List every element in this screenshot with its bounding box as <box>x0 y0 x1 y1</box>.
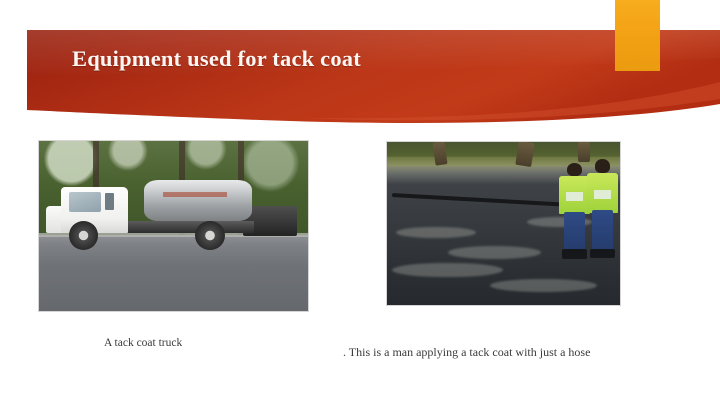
caption-tack-coat-hose: . This is a man applying a tack coat wit… <box>343 345 590 360</box>
worker-trousers <box>564 212 586 250</box>
truck-front-wheel <box>69 221 99 250</box>
tack-coat-truck-photo <box>39 141 308 311</box>
worker-trousers <box>592 210 614 250</box>
truck-rear-wheel <box>195 221 225 250</box>
asphalt-smear <box>396 227 475 238</box>
tree-trunk-icon <box>432 142 447 166</box>
caption-tack-coat-truck: A tack coat truck <box>104 337 182 349</box>
slide-canvas: Equipment used for tack coat <box>0 0 720 404</box>
truck-tank-stripe <box>163 192 228 197</box>
banner-shape <box>0 0 720 132</box>
worker-boots <box>562 249 586 258</box>
header-banner: Equipment used for tack coat <box>0 0 720 132</box>
worker-head <box>595 159 610 173</box>
truck-side-window <box>105 193 114 210</box>
worker-boots <box>590 249 614 258</box>
truck-tank <box>144 180 252 221</box>
tack-coat-hose-photo <box>387 142 620 305</box>
worker-head <box>567 163 582 176</box>
worker-vest-stripe <box>594 190 611 199</box>
slide-title: Equipment used for tack coat <box>72 46 361 72</box>
worker-figure <box>559 162 589 263</box>
truck-windshield <box>69 192 101 212</box>
worker-figure <box>587 158 617 262</box>
orange-accent-bar <box>615 0 660 71</box>
worker-vest-stripe <box>566 192 583 201</box>
asphalt-smear <box>490 279 597 292</box>
